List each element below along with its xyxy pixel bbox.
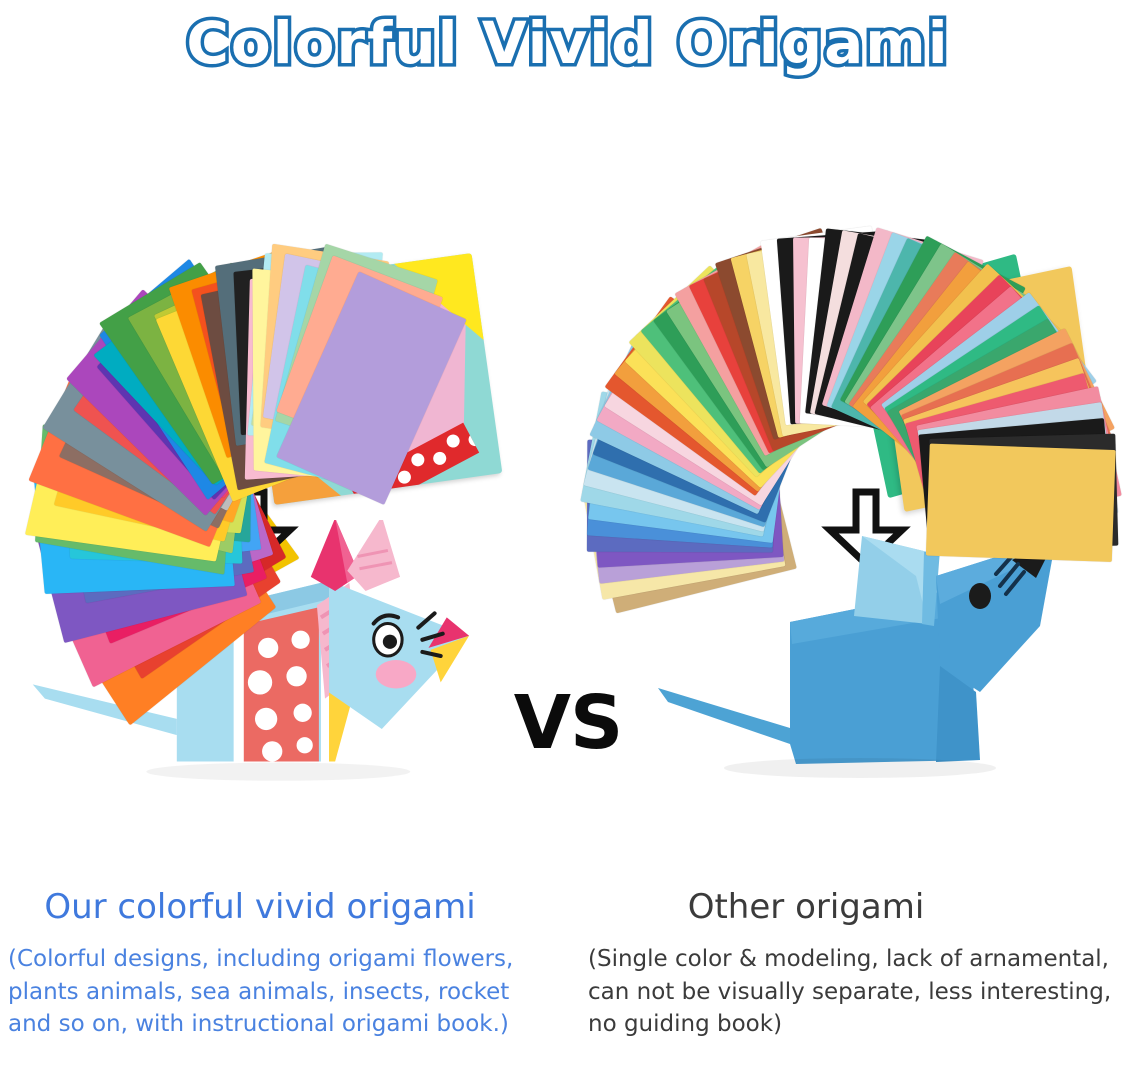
caption-line: no guiding book) bbox=[588, 1008, 1130, 1041]
origami-paper-fan-plain bbox=[568, 100, 1136, 500]
comparison-panel-left bbox=[0, 90, 568, 880]
versus-label: VS bbox=[498, 686, 638, 760]
caption-right: Other origami (Single color & modeling, … bbox=[568, 888, 1136, 1041]
caption-line: and so on, with instructional origami bo… bbox=[8, 1008, 550, 1041]
comparison-panel-right bbox=[568, 90, 1136, 880]
caption-line: can not be visually separate, less inter… bbox=[588, 976, 1130, 1009]
caption-line: (Colorful designs, including origami flo… bbox=[8, 943, 550, 976]
caption-left-heading: Our colorful vivid origami bbox=[0, 888, 568, 927]
origami-paper-fan-colorful bbox=[0, 100, 568, 500]
caption-line: plants animals, sea animals, insects, ro… bbox=[8, 976, 550, 1009]
origami-paper-sheet bbox=[926, 444, 1116, 562]
caption-line: (Single color & modeling, lack of arname… bbox=[588, 943, 1130, 976]
caption-right-body: (Single color & modeling, lack of arname… bbox=[568, 943, 1136, 1041]
caption-right-heading: Other origami bbox=[568, 888, 1136, 927]
page-title: Colorful Vivid Origami bbox=[186, 9, 949, 77]
caption-left-body: (Colorful designs, including origami flo… bbox=[0, 943, 568, 1041]
caption-left: Our colorful vivid origami (Colorful des… bbox=[0, 888, 568, 1041]
page-title-bar: Colorful Vivid Origami bbox=[0, 4, 1136, 82]
